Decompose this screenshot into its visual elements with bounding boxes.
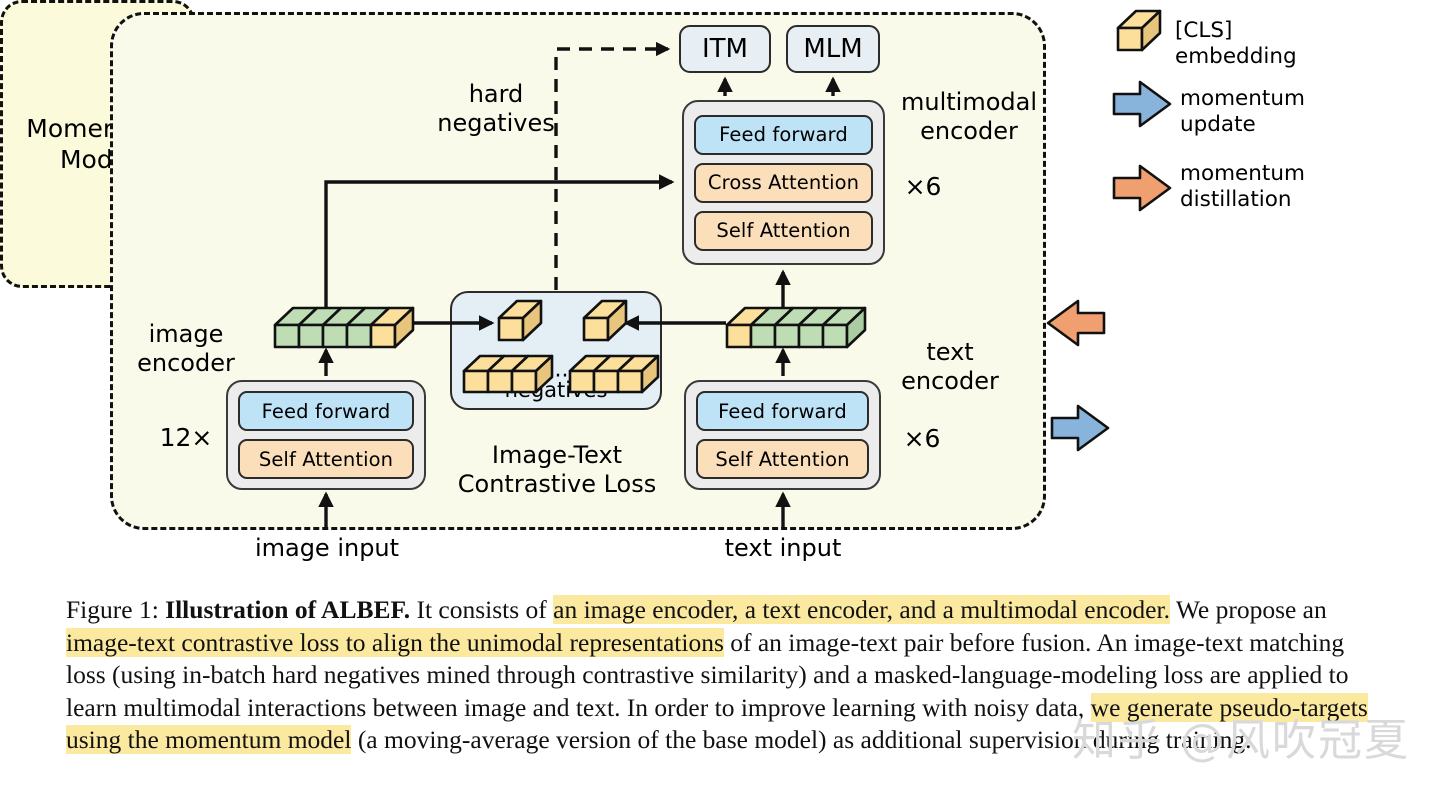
itc-text-cls-cube [584,301,626,340]
caption-highlight: an image encoder, a text encoder, and a … [553,595,1170,624]
legend-label-momentum-update: momentum update [1180,86,1305,138]
legend-label-cls-embedding: [CLS] embedding [1175,18,1297,70]
caption-highlight: image-text contrastive loss to align the… [66,628,724,657]
orange-arrow-icon [1114,166,1170,210]
figure-canvas: Feed forward Self Attention Feed forward… [0,0,1440,795]
text-embedding-cubes [727,308,865,347]
cls-cube-icon [1118,11,1160,50]
caption-text: We propose an [1170,595,1327,624]
figure-caption: Figure 1: Illustration of ALBEF. It cons… [66,594,1371,757]
arrow-image-embedding-to-cross-attention [326,182,672,312]
image-embedding-cubes [275,308,413,347]
itc-negatives-right [570,356,658,392]
itc-negatives-left [464,356,552,392]
momentum-distillation-arrow-icon [1048,301,1104,345]
dashed-hard-negatives-path [556,49,668,290]
caption-text: (a moving-average version of the base mo… [351,725,1251,754]
momentum-update-arrow-icon [1052,406,1108,450]
blue-arrow-icon [1114,82,1170,126]
itc-image-cls-cube [499,301,541,340]
caption-figure-number: Figure 1: [66,595,159,624]
legend-label-momentum-distillation: momentum distillation [1180,161,1305,213]
caption-text: It consists of [410,595,553,624]
caption-bold-title: Illustration of ALBEF. [165,595,410,624]
